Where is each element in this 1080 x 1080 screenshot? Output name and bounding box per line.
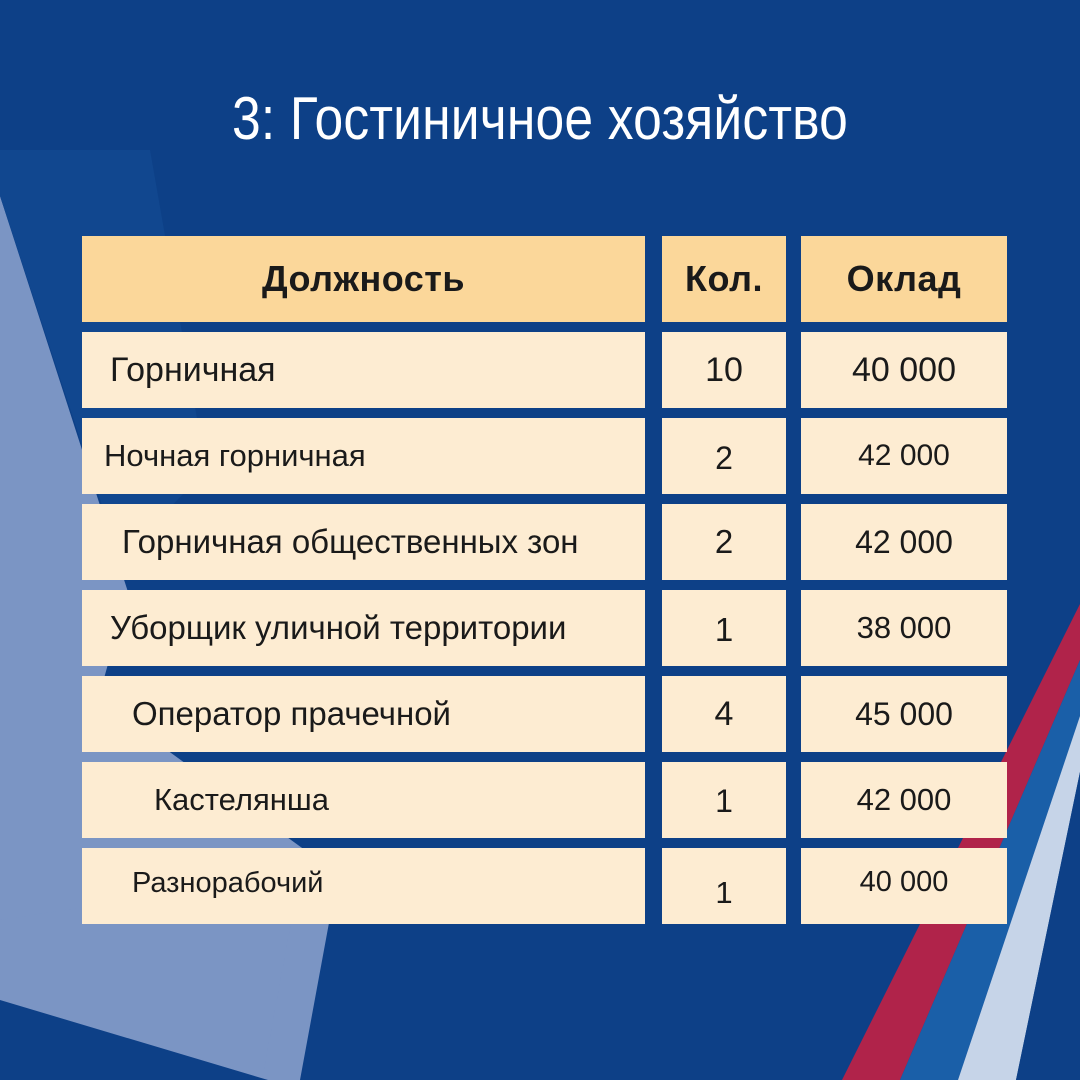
cell-count: 1 xyxy=(662,590,786,666)
cell-salary: 40 000 xyxy=(801,332,1007,408)
table-row: Кастелянша 1 42 000 xyxy=(82,762,1007,838)
stripe-navy-edge xyxy=(1016,772,1080,1080)
table-row: Разнорабочий 1 40 000 xyxy=(82,848,1007,924)
cell-salary: 45 000 xyxy=(801,676,1007,752)
cell-salary: 42 000 xyxy=(801,504,1007,580)
positions-table: Должность Кол. Оклад Горничная 10 40 000… xyxy=(82,236,1007,934)
cell-count: 1 xyxy=(662,848,786,924)
column-header-position: Должность xyxy=(82,236,645,322)
cell-position: Уборщик уличной территории xyxy=(82,590,645,666)
table-row: Оператор прачечной 4 45 000 xyxy=(82,676,1007,752)
cell-count: 4 xyxy=(662,676,786,752)
slide-canvas: 3: Гостиничное хозяйство Должность Кол. … xyxy=(0,0,1080,1080)
cell-salary: 38 000 xyxy=(801,590,1007,666)
table-row: Горничная общественных зон 2 42 000 xyxy=(82,504,1007,580)
table-row: Ночная горничная 2 42 000 xyxy=(82,418,1007,494)
cell-position: Горничная общественных зон xyxy=(82,504,645,580)
cell-salary: 40 000 xyxy=(801,848,1007,924)
column-header-count: Кол. xyxy=(662,236,786,322)
cell-position: Кастелянша xyxy=(82,762,645,838)
bottom-left-navy-wedge xyxy=(0,1000,268,1080)
table-row: Горничная 10 40 000 xyxy=(82,332,1007,408)
slide-title: 3: Гостиничное хозяйство xyxy=(76,84,1005,153)
cell-count: 2 xyxy=(662,418,786,494)
table-row: Уборщик уличной территории 1 38 000 xyxy=(82,590,1007,666)
cell-position: Разнорабочий xyxy=(82,848,645,924)
cell-position: Ночная горничная xyxy=(82,418,645,494)
cell-salary: 42 000 xyxy=(801,762,1007,838)
cell-position: Горничная xyxy=(82,332,645,408)
table-header-row: Должность Кол. Оклад xyxy=(82,236,1007,322)
cell-salary: 42 000 xyxy=(801,418,1007,494)
cell-count: 1 xyxy=(662,762,786,838)
cell-position: Оператор прачечной xyxy=(82,676,645,752)
cell-count: 10 xyxy=(662,332,786,408)
column-header-salary: Оклад xyxy=(801,236,1007,322)
cell-count: 2 xyxy=(662,504,786,580)
